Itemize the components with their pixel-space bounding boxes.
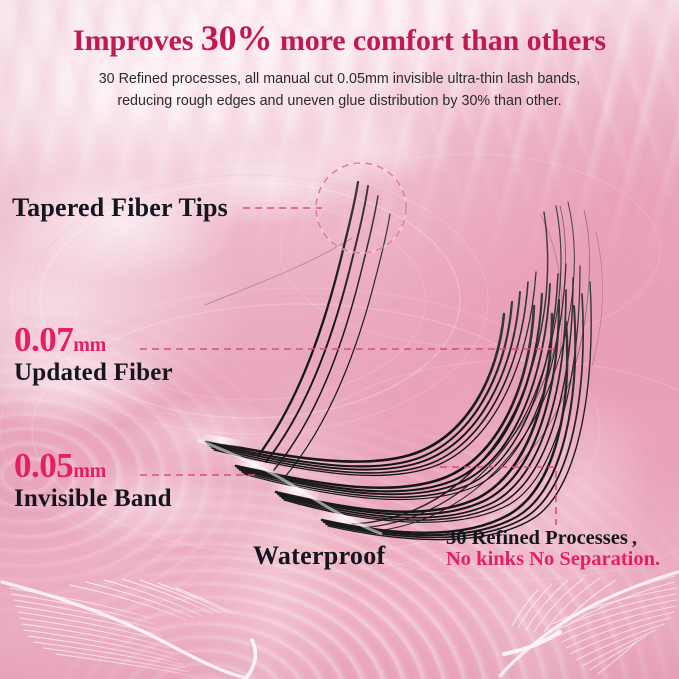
annotation-invisible-band: 0.05mm Invisible Band	[14, 448, 172, 513]
headline-after: more comfort than others	[272, 24, 606, 57]
spec-value-005: 0.05	[14, 446, 73, 485]
refined-line-1: 30 Refined Processes ,	[446, 528, 660, 549]
annotation-waterproof: Waterproof	[253, 541, 386, 571]
spec-value-007: 0.07	[14, 320, 73, 359]
feather-left	[2, 579, 255, 678]
product-infographic: Improves 30% more comfort than others 30…	[0, 0, 679, 679]
annotation-tapered-fiber-tips: Tapered Fiber Tips	[12, 193, 228, 223]
spec-caption-invisible-band: Invisible Band	[14, 485, 172, 513]
refined-line-2: No kinks No Separation.	[446, 549, 660, 570]
spec-unit-007: mm	[73, 334, 106, 356]
subtitle: 30 Refined processes, all manual cut 0.0…	[26, 68, 653, 112]
annotation-updated-fiber: 0.07mm Updated Fiber	[14, 322, 173, 387]
spec-unit-005: mm	[73, 460, 106, 482]
page-title: Improves 30% more comfort than others	[0, 20, 679, 56]
feather-right	[500, 572, 678, 676]
annotation-refined-processes: 30 Refined Processes , No kinks No Separ…	[446, 528, 660, 570]
callout-circle-tips	[316, 163, 406, 253]
subtitle-line-2: reducing rough edges and uneven glue dis…	[26, 90, 653, 112]
spec-caption-updated-fiber: Updated Fiber	[14, 359, 173, 387]
subtitle-line-1: 30 Refined processes, all manual cut 0.0…	[26, 68, 653, 90]
headline-highlight: 30%	[201, 18, 273, 58]
headline-before: Improves	[73, 24, 201, 57]
callout-bracket-refined	[440, 467, 556, 525]
callout-circle-glow	[316, 163, 406, 253]
